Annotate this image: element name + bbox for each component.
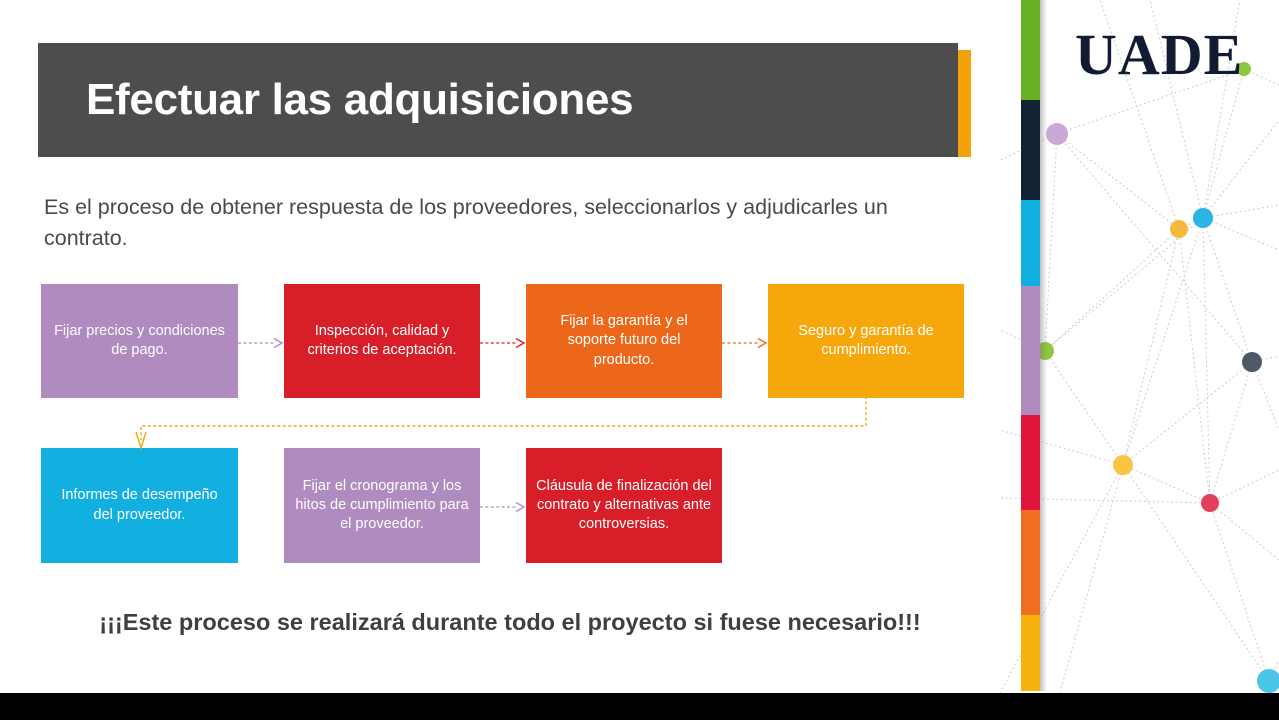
process-box-4-label: Seguro y garantía de cumplimiento. bbox=[778, 322, 954, 360]
title-banner: Efectuar las adquisiciones bbox=[38, 43, 958, 157]
arrow-icon-1 bbox=[238, 335, 284, 351]
color-bar-shadow bbox=[1040, 0, 1047, 691]
process-box-3-label: Fijar la garantía y el soporte futuro de… bbox=[536, 312, 712, 369]
page-title: Efectuar las adquisiciones bbox=[38, 77, 633, 123]
footer-note: ¡¡¡Este proceso se realizará durante tod… bbox=[60, 605, 960, 639]
process-box-6-label: Fijar el cronograma y los hitos de cumpl… bbox=[294, 477, 470, 534]
slide-canvas: Efectuar las adquisiciones Es el proceso… bbox=[0, 0, 1279, 720]
color-bar-segment-orange bbox=[1021, 510, 1040, 615]
side-panel: UADE bbox=[1000, 0, 1279, 693]
process-box-1: Fijar precios y condiciones de pago. bbox=[41, 284, 238, 398]
process-box-2: Inspección, calidad y criterios de acept… bbox=[284, 284, 480, 398]
node-red-lower bbox=[1201, 494, 1219, 512]
process-box-5: Informes de desempeño del proveedor. bbox=[41, 448, 238, 563]
process-box-6: Fijar el cronograma y los hitos de cumpl… bbox=[284, 448, 480, 563]
node-purple-left bbox=[1046, 123, 1068, 145]
color-bar-segment-purple bbox=[1021, 286, 1040, 415]
node-cyan-lower bbox=[1257, 669, 1279, 693]
intro-paragraph: Es el proceso de obtener respuesta de lo… bbox=[44, 192, 969, 253]
arrow-icon-4 bbox=[480, 499, 526, 515]
bottom-bar bbox=[0, 693, 1279, 720]
color-bar-segment-red bbox=[1021, 415, 1040, 510]
node-gray-mid bbox=[1242, 352, 1262, 372]
process-box-1-label: Fijar precios y condiciones de pago. bbox=[51, 322, 228, 360]
process-box-2-label: Inspección, calidad y criterios de acept… bbox=[294, 322, 470, 360]
process-box-3: Fijar la garantía y el soporte futuro de… bbox=[526, 284, 722, 398]
title-accent-stripe bbox=[958, 50, 971, 157]
uade-logo: UADE bbox=[1075, 26, 1243, 84]
elbow-arrow-icon bbox=[130, 396, 880, 454]
color-bar-segment-cyan bbox=[1021, 200, 1040, 286]
color-bar-segment-green bbox=[1021, 0, 1040, 100]
node-amber-upper bbox=[1170, 220, 1188, 238]
process-box-7-label: Cláusula de finalización del contrato y … bbox=[536, 477, 712, 534]
arrow-icon-3 bbox=[722, 335, 768, 351]
process-box-7: Cláusula de finalización del contrato y … bbox=[526, 448, 722, 563]
process-box-5-label: Informes de desempeño del proveedor. bbox=[51, 486, 228, 524]
color-bar-segment-navy bbox=[1021, 100, 1040, 200]
color-bar bbox=[1021, 0, 1040, 691]
color-bar-segment-amber bbox=[1021, 615, 1040, 691]
arrow-icon-2 bbox=[480, 335, 526, 351]
node-cyan-upper bbox=[1193, 208, 1213, 228]
node-amber-lower bbox=[1113, 455, 1133, 475]
process-box-4: Seguro y garantía de cumplimiento. bbox=[768, 284, 964, 398]
